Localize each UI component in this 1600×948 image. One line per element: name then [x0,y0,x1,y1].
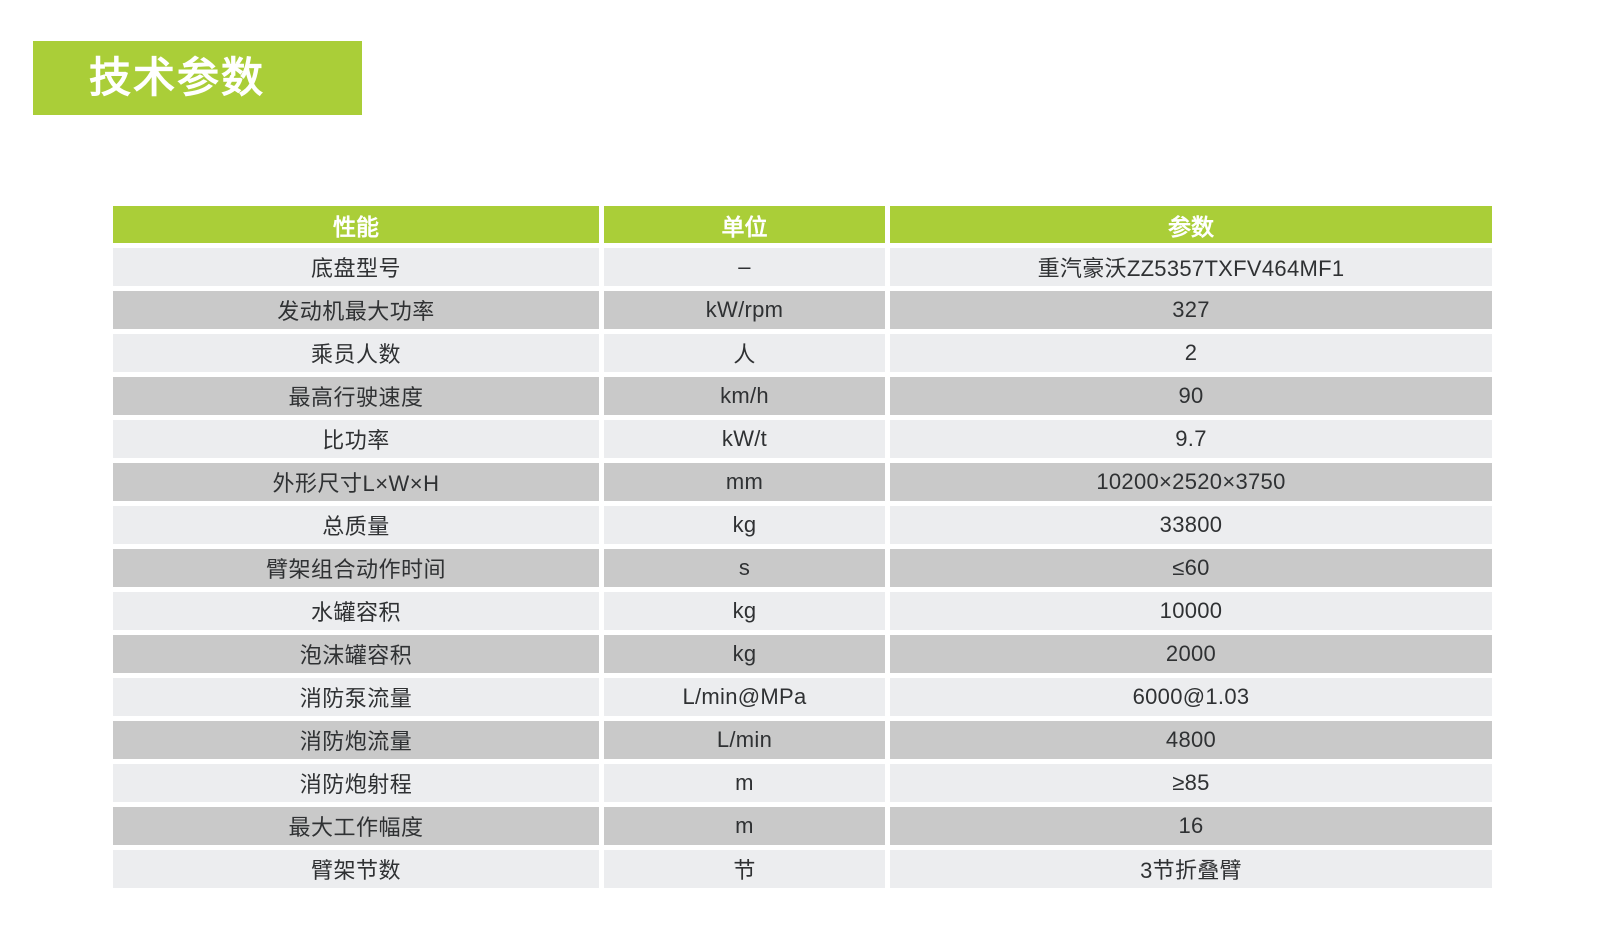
column-header-performance: 性能 [113,206,599,243]
table-row: 底盘型号–重汽豪沃ZZ5357TXFV464MF1 [113,248,1492,286]
cell-unit: 人 [604,334,885,372]
table-row: 比功率kW/t9.7 [113,420,1492,458]
spec-sheet-page: 技术参数 性能 单位 参数 底盘型号–重汽豪沃ZZ5357TXFV464MF1发… [0,0,1600,948]
table-body: 底盘型号–重汽豪沃ZZ5357TXFV464MF1发动机最大功率kW/rpm32… [113,248,1492,888]
cell-performance: 臂架节数 [113,850,599,888]
cell-parameter: 2 [890,334,1492,372]
cell-parameter: 3节折叠臂 [890,850,1492,888]
cell-parameter: 2000 [890,635,1492,673]
table-row: 乘员人数人2 [113,334,1492,372]
cell-performance: 消防泵流量 [113,678,599,716]
cell-parameter: 327 [890,291,1492,329]
cell-parameter: 4800 [890,721,1492,759]
cell-unit: km/h [604,377,885,415]
cell-unit: – [604,248,885,286]
table-row: 发动机最大功率kW/rpm327 [113,291,1492,329]
table-row: 最大工作幅度m16 [113,807,1492,845]
cell-unit: 节 [604,850,885,888]
cell-performance: 消防炮射程 [113,764,599,802]
cell-unit: L/min@MPa [604,678,885,716]
technical-spec-table-container: 性能 单位 参数 底盘型号–重汽豪沃ZZ5357TXFV464MF1发动机最大功… [108,201,1492,893]
section-title-text: 技术参数 [89,57,265,99]
table-row: 臂架节数节3节折叠臂 [113,850,1492,888]
cell-unit: kW/rpm [604,291,885,329]
table-row: 总质量kg33800 [113,506,1492,544]
cell-parameter: ≥85 [890,764,1492,802]
cell-parameter: ≤60 [890,549,1492,587]
cell-parameter: 6000@1.03 [890,678,1492,716]
table-row: 消防炮射程m≥85 [113,764,1492,802]
cell-performance: 乘员人数 [113,334,599,372]
cell-performance: 总质量 [113,506,599,544]
table-row: 泡沫罐容积kg2000 [113,635,1492,673]
cell-performance: 泡沫罐容积 [113,635,599,673]
cell-parameter: 9.7 [890,420,1492,458]
technical-spec-table: 性能 单位 参数 底盘型号–重汽豪沃ZZ5357TXFV464MF1发动机最大功… [108,201,1497,893]
cell-performance: 消防炮流量 [113,721,599,759]
table-row: 消防炮流量L/min4800 [113,721,1492,759]
cell-performance: 最大工作幅度 [113,807,599,845]
cell-performance: 臂架组合动作时间 [113,549,599,587]
table-header: 性能 单位 参数 [113,206,1492,243]
cell-parameter: 重汽豪沃ZZ5357TXFV464MF1 [890,248,1492,286]
cell-performance: 底盘型号 [113,248,599,286]
cell-unit: kW/t [604,420,885,458]
cell-performance: 外形尺寸L×W×H [113,463,599,501]
table-row: 最高行驶速度km/h90 [113,377,1492,415]
cell-unit: m [604,807,885,845]
cell-performance: 比功率 [113,420,599,458]
cell-unit: kg [604,592,885,630]
column-header-unit: 单位 [604,206,885,243]
cell-unit: kg [604,635,885,673]
table-row: 臂架组合动作时间s≤60 [113,549,1492,587]
cell-parameter: 33800 [890,506,1492,544]
cell-unit: L/min [604,721,885,759]
cell-parameter: 90 [890,377,1492,415]
cell-performance: 发动机最大功率 [113,291,599,329]
cell-unit: m [604,764,885,802]
table-row: 水罐容积kg10000 [113,592,1492,630]
cell-unit: kg [604,506,885,544]
table-row: 外形尺寸L×W×Hmm10200×2520×3750 [113,463,1492,501]
table-header-row: 性能 单位 参数 [113,206,1492,243]
section-title-banner: 技术参数 [33,41,362,115]
table-row: 消防泵流量L/min@MPa6000@1.03 [113,678,1492,716]
cell-parameter: 16 [890,807,1492,845]
cell-parameter: 10000 [890,592,1492,630]
column-header-parameter: 参数 [890,206,1492,243]
cell-unit: s [604,549,885,587]
cell-performance: 最高行驶速度 [113,377,599,415]
cell-parameter: 10200×2520×3750 [890,463,1492,501]
cell-unit: mm [604,463,885,501]
cell-performance: 水罐容积 [113,592,599,630]
